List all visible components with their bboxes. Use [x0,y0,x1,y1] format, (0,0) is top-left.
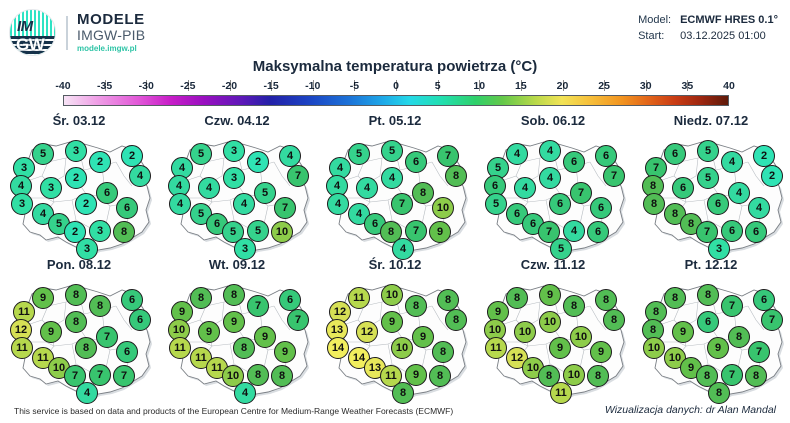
temperature-marker-lodz: 4 [233,193,255,215]
footer-attribution: This service is based on data and produc… [14,406,453,416]
colorbar-tick-40: 40 [723,80,735,92]
temperature-marker-zielona-gora: 8 [643,193,665,215]
forecast-panel: Czw. 04.1245324744354475655103 [158,112,316,256]
logo-gw-text: GW [16,35,44,55]
temperature-marker-gdansk: 10 [381,284,403,306]
temperature-marker-poznan: 6 [672,177,694,199]
temperature-marker-zielona-gora: 11 [169,337,191,359]
temperature-marker-zielona-gora: 3 [11,193,33,215]
forecast-panel: Pt. 05.1245567844484710468794 [316,112,474,256]
temperature-marker-gdansk: 9 [539,284,561,306]
colorbar-mark-35 [687,80,688,91]
temperature-marker-suwalki: 8 [595,289,617,311]
temperature-marker-olsztyn: 7 [721,295,743,317]
footer-author: Wizualizacja danych: dr Alan Mandal [605,404,776,416]
temperature-marker-bialystok: 8 [603,309,625,331]
temperature-marker-bydgoszcz: 6 [697,311,719,333]
colorbar-mark--15 [271,80,272,91]
start-value: 03.12.2025 01:00 [680,28,766,44]
temperature-marker-suwalki: 8 [437,289,459,311]
temperature-marker-lublin: 7 [748,341,770,363]
temperature-marker-bialystok: 7 [761,309,783,331]
temperature-marker-zielona-gora: 10 [643,337,665,359]
logo-divider [66,16,68,50]
temperature-marker-bialystok: 2 [761,165,783,187]
temperature-marker-bydgoszcz: 2 [65,167,87,189]
panel-date-label: Czw. 11.12 [474,256,632,276]
temperature-marker-olsztyn: 7 [247,295,269,317]
temperature-marker-suwalki: 6 [121,289,143,311]
temperature-marker-lublin: 8 [432,341,454,363]
temperature-marker-lublin: 9 [274,341,296,363]
temperature-marker-lodz: 8 [75,337,97,359]
forecast-panel: Czw. 11.129898881010101011991210810811 [474,256,632,400]
temperature-marker-zakopane: 4 [76,382,98,404]
temperature-marker-bialystok: 6 [129,309,151,331]
temperature-marker-bydgoszcz: 5 [697,167,719,189]
temperature-marker-lublin: 6 [116,197,138,219]
temperature-marker-lodz: 7 [391,193,413,215]
poland-map: 12111088813129914108141311988 [316,276,474,400]
temperature-marker-suwalki: 2 [753,145,775,167]
model-row: Model: ECMWF HRES 0.1° [638,12,778,28]
forecast-panel: Pon. 08.12119886612987118611107774 [0,256,158,400]
temperature-marker-koszalin: 4 [506,143,528,165]
temperature-marker-warszawa: 9 [412,326,434,348]
temperature-marker-poznan: 4 [356,177,378,199]
colorbar-mark--25 [188,80,189,91]
temperature-marker-koszalin: 8 [664,287,686,309]
logo-line-institute: IMGW-PIB [77,27,145,43]
temperature-marker-gdansk: 8 [223,284,245,306]
temperature-marker-suwalki: 7 [437,145,459,167]
temperature-marker-lodz: 10 [391,337,413,359]
temperature-marker-poznan: 9 [40,321,62,343]
colorbar-mark--30 [146,80,147,91]
colorbar-gradient [63,95,729,106]
temperature-marker-warszawa: 4 [728,182,750,204]
temperature-marker-bydgoszcz: 4 [381,167,403,189]
colorbar-mark-10 [479,80,480,91]
panel-date-label: Wt. 09.12 [158,256,316,276]
temperature-marker-bialystok: 7 [287,309,309,331]
model-value: ECMWF HRES 0.1° [680,12,778,28]
panel-date-label: Niedz. 07.12 [632,112,790,132]
temperature-marker-lublin: 10 [432,197,454,219]
temperature-marker-olsztyn: 2 [247,151,269,173]
panel-date-label: Pt. 05.12 [316,112,474,132]
temperature-marker-gdansk: 5 [697,140,719,162]
temperature-marker-bydgoszcz: 10 [539,311,561,333]
temperature-marker-zielona-gora: 4 [327,193,349,215]
panel-date-label: Sob. 06.12 [474,112,632,132]
forecast-panel: Niedz. 07.127654228654864887663 [632,112,790,256]
start-label: Start: [638,28,680,44]
temperature-marker-lodz: 2 [75,193,97,215]
temperature-marker-zakopane: 8 [392,382,414,404]
poland-map: 7654228654864887663 [632,132,790,256]
temperature-marker-rzeszow: 8 [113,221,135,243]
panel-date-label: Pon. 08.12 [0,256,158,276]
logo-im-text: IM [17,18,33,35]
temperature-marker-lublin: 4 [748,197,770,219]
temperature-marker-olsztyn: 6 [563,151,585,173]
temperature-marker-koszalin: 8 [190,287,212,309]
temperature-marker-zielona-gora: 4 [169,193,191,215]
forecast-panel: Pt. 12.12888767896810971098788 [632,256,790,400]
temperature-marker-bydgoszcz: 4 [539,167,561,189]
temperature-marker-poznan: 4 [198,177,220,199]
temperature-marker-koszalin: 9 [32,287,54,309]
temperature-marker-olsztyn: 4 [721,151,743,173]
temperature-marker-warszawa: 6 [96,182,118,204]
colorbar-mark-0 [396,80,397,91]
temperature-marker-koszalin: 6 [664,143,686,165]
colorbar-mark-5 [438,80,439,91]
panel-date-label: Śr. 03.12 [0,112,158,132]
temperature-marker-rzeszow: 8 [587,365,609,387]
temperature-marker-bialystok: 7 [603,165,625,187]
temperature-marker-lublin: 6 [116,341,138,363]
colorbar-mark--5 [354,80,355,91]
poland-map: 45324744354475655103 [158,132,316,256]
temperature-marker-warszawa: 8 [728,326,750,348]
temperature-marker-rzeszow: 10 [271,221,293,243]
poland-map: 3532244326326452383 [0,132,158,256]
temperature-marker-lublin: 9 [590,341,612,363]
temperature-marker-suwalki: 6 [279,289,301,311]
temperature-marker-gdansk: 3 [65,140,87,162]
colorbar-mark--10 [313,80,314,91]
temperature-marker-koszalin: 5 [190,143,212,165]
temperature-marker-rzeszow: 9 [429,221,451,243]
colorbar-mark-15 [521,80,522,91]
temperature-marker-bydgoszcz: 9 [223,311,245,333]
temperature-marker-suwalki: 6 [595,145,617,167]
temperature-marker-warszawa: 5 [254,182,276,204]
temperature-marker-poznan: 9 [198,321,220,343]
temperature-marker-poznan: 12 [356,321,378,343]
temperature-marker-rzeszow: 7 [113,365,135,387]
colorbar: -40-35-30-25-20-15-10-50510152025303540 [63,80,729,106]
colorbar-mark--20 [230,80,231,91]
temperature-marker-rzeszow: 8 [429,365,451,387]
temperature-marker-koszalin: 5 [348,143,370,165]
temperature-marker-zielona-gora: 11 [485,337,507,359]
temperature-marker-lodz: 9 [549,337,571,359]
temperature-marker-bydgoszcz: 8 [65,311,87,333]
temperature-marker-poznan: 10 [514,321,536,343]
poland-map: 888767896810971098788 [632,276,790,400]
temperature-marker-gdansk: 4 [539,140,561,162]
temperature-marker-suwalki: 6 [753,289,775,311]
forecast-panel: Śr. 03.123532244326326452383 [0,112,158,256]
temperature-marker-gdansk: 3 [223,140,245,162]
temperature-marker-lublin: 7 [274,197,296,219]
temperature-marker-zielona-gora: 14 [327,337,349,359]
temperature-marker-suwalki: 2 [121,145,143,167]
temperature-marker-koszalin: 11 [348,287,370,309]
temperature-marker-lodz: 8 [233,337,255,359]
forecast-panel: Sob. 06.125446676447566667465 [474,112,632,256]
logo-line-url: modele.imgw.pl [77,43,145,54]
temperature-marker-olsztyn: 8 [405,295,427,317]
temperature-marker-lublin: 6 [590,197,612,219]
temperature-marker-olsztyn: 8 [89,295,111,317]
forecast-panel: Śr. 10.1212111088813129914108141311988 [316,256,474,400]
page-title: Maksymalna temperatura powietrza (°C) [0,58,790,75]
model-label: Model: [638,12,680,28]
temperature-marker-bydgoszcz: 3 [223,167,245,189]
temperature-marker-koszalin: 5 [32,143,54,165]
colorbar-mark-25 [604,80,605,91]
temperature-marker-bialystok: 7 [287,165,309,187]
temperature-marker-poznan: 4 [514,177,536,199]
temperature-marker-warszawa: 8 [412,182,434,204]
poland-map: 45567844484710468794 [316,132,474,256]
temperature-marker-warszawa: 7 [570,182,592,204]
temperature-marker-lodz: 6 [707,193,729,215]
temperature-marker-rzeszow: 6 [587,221,609,243]
poland-map: 119886612987118611107774 [0,276,158,400]
forecast-panel-grid: Śr. 03.123532244326326452383Czw. 04.1245… [0,112,790,400]
colorbar-mark--35 [105,80,106,91]
temperature-marker-bialystok: 8 [445,165,467,187]
temperature-marker-lodz: 6 [549,193,571,215]
temperature-marker-suwalki: 4 [279,145,301,167]
logo-line-modele: MODELE [77,12,145,27]
panel-date-label: Pt. 12.12 [632,256,790,276]
poland-map: 988767109991189111110884 [158,276,316,400]
imgw-logo-icon: IM GW [9,9,56,56]
temperature-marker-poznan: 3 [40,177,62,199]
panel-date-label: Czw. 04.12 [158,112,316,132]
temperature-marker-zielona-gora: 5 [485,193,507,215]
temperature-marker-rzeszow: 6 [745,221,767,243]
temperature-marker-olsztyn: 8 [563,295,585,317]
temperature-marker-poznan: 9 [672,321,694,343]
start-row: Start: 03.12.2025 01:00 [638,28,778,44]
temperature-marker-bialystok: 8 [445,309,467,331]
poland-map: 9898881010101011991210810811 [474,276,632,400]
logo-wordmark: MODELE IMGW-PIB modele.imgw.pl [77,12,145,54]
page-header: IM GW MODELE IMGW-PIB modele.imgw.pl Mod… [0,0,790,58]
model-info-block: Model: ECMWF HRES 0.1° Start: 03.12.2025… [638,12,778,44]
temperature-marker-zakopane: 4 [234,382,256,404]
temperature-marker-zakopane: 8 [708,382,730,404]
temperature-marker-zielona-gora: 11 [11,337,33,359]
poland-map: 5446676447566667465 [474,132,632,256]
temperature-marker-warszawa: 10 [570,326,592,348]
colorbar-tick--40: -40 [55,80,70,92]
temperature-marker-olsztyn: 2 [89,151,111,173]
temperature-marker-bialystok: 4 [129,165,151,187]
temperature-marker-zakopane: 11 [550,382,572,404]
panel-date-label: Śr. 10.12 [316,256,474,276]
temperature-marker-koszalin: 8 [506,287,528,309]
temperature-marker-olsztyn: 6 [405,151,427,173]
forecast-panel: Wt. 09.12988767109991189111110884 [158,256,316,400]
temperature-marker-gdansk: 8 [65,284,87,306]
temperature-marker-rzeszow: 8 [745,365,767,387]
temperature-marker-gdansk: 8 [697,284,719,306]
temperature-marker-rzeszow: 8 [271,365,293,387]
temperature-marker-warszawa: 9 [254,326,276,348]
temperature-marker-lodz: 9 [707,337,729,359]
temperature-marker-gdansk: 5 [381,140,403,162]
colorbar-mark-30 [646,80,647,91]
temperature-marker-warszawa: 7 [96,326,118,348]
imgw-logo: IM GW MODELE IMGW-PIB modele.imgw.pl [9,9,145,56]
colorbar-mark-20 [563,80,564,91]
temperature-marker-bydgoszcz: 9 [381,311,403,333]
